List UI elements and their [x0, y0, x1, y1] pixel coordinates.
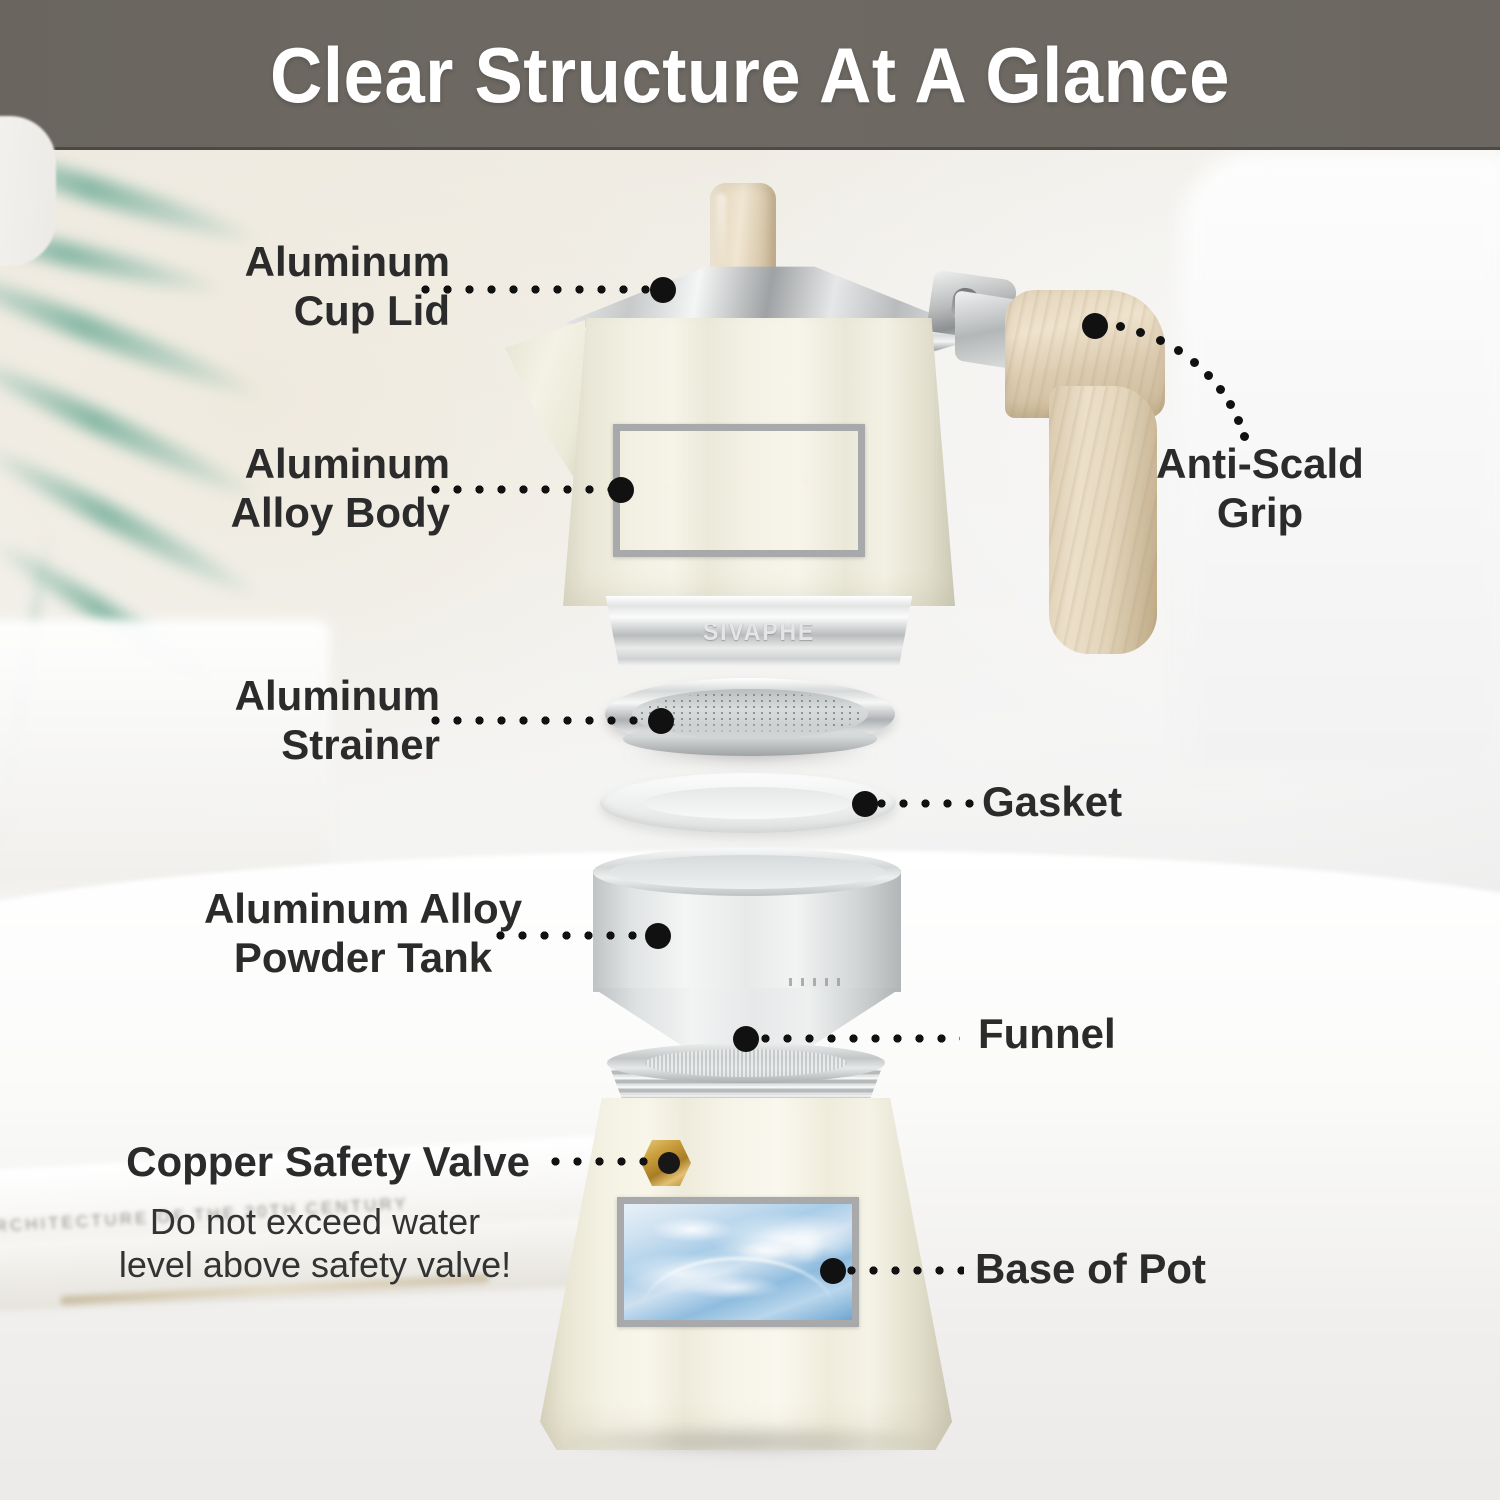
- leader-line-aluminum-alloy-powder-tank: [495, 930, 645, 941]
- crema-bubbles: [620, 448, 858, 505]
- callout-label-funnel: Funnel: [978, 1010, 1238, 1059]
- leader-dot-aluminum-cup-lid: [650, 277, 676, 303]
- leader-dot-base-of-pot: [820, 1258, 846, 1284]
- callout-label-anti-scald-grip: Anti-Scald Grip: [1090, 440, 1430, 537]
- leader-dot-aluminum-alloy-powder-tank: [645, 923, 671, 949]
- leader-line-base-of-pot: [846, 1265, 964, 1276]
- leader-dot-aluminum-strainer: [648, 708, 674, 734]
- leader-dot-gasket: [852, 791, 878, 817]
- leader-dot-funnel: [733, 1026, 759, 1052]
- safety-warning-text: Do not exceed water level above safety v…: [80, 1200, 550, 1286]
- leader-line-funnel: [760, 1033, 960, 1044]
- callout-label-copper-safety-valve: Copper Safety Valve: [60, 1138, 530, 1187]
- leader-line-gasket: [876, 798, 976, 809]
- callout-label-aluminum-alloy-body: Aluminum Alloy Body: [140, 440, 450, 537]
- tank-opening: [609, 855, 885, 889]
- brand-logo: SIVAPHE: [609, 618, 909, 647]
- tank-vent-slots: [789, 978, 847, 986]
- pour-spout: [505, 320, 585, 495]
- safety-valve-hole: [658, 1152, 680, 1174]
- callout-label-aluminum-strainer: Aluminum Strainer: [150, 672, 440, 769]
- water-swirl: [624, 1204, 852, 1320]
- callout-label-base-of-pot: Base of Pot: [975, 1245, 1355, 1294]
- leader-line-copper-safety-valve: [550, 1156, 658, 1167]
- coffee-crema-photo: [613, 424, 865, 557]
- collar-inner-disc: [645, 1049, 847, 1077]
- leader-line-aluminum-alloy-body: [430, 484, 620, 495]
- callout-label-gasket: Gasket: [982, 778, 1282, 827]
- leader-dot-anti-scald-grip: [1082, 313, 1108, 339]
- infographic-canvas: Clear Structure At A Glance ARCHITECTURE…: [0, 0, 1500, 1500]
- gasket-inner-hole: [644, 787, 852, 819]
- leader-line-aluminum-cup-lid: [420, 284, 660, 295]
- handle-inner-cutout: [0, 116, 56, 266]
- leader-line-aluminum-strainer: [430, 715, 650, 726]
- base-contact-shadow: [560, 1424, 932, 1458]
- leader-dot-aluminum-alloy-body: [608, 477, 634, 503]
- callout-label-aluminum-cup-lid: Aluminum Cup Lid: [160, 238, 450, 335]
